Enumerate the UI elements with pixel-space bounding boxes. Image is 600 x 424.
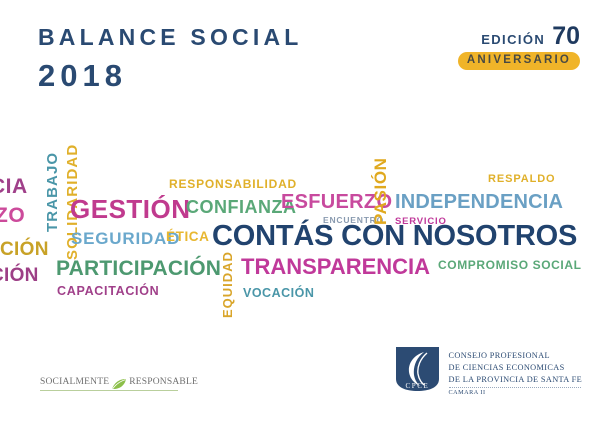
word-cloud-item: CAPACITACIÓN bbox=[57, 285, 159, 298]
anniversary-badge: EDICIÓN 70 ANIVERSARIO bbox=[420, 24, 580, 70]
sr-logo-inner: SOCIALMENTE RESPONSABLE bbox=[40, 377, 178, 391]
svg-text:CPCE: CPCE bbox=[405, 382, 429, 390]
word-cloud-item: INDEPENDENCIA bbox=[395, 192, 563, 212]
cpce-emblem-icon: CPCE bbox=[394, 345, 441, 393]
page-title: BALANCE SOCIAL bbox=[38, 26, 418, 49]
badge-edition-number: 70 bbox=[552, 24, 580, 49]
cpce-camara-label: CAMARA II bbox=[449, 390, 582, 396]
word-cloud-item: CIA bbox=[0, 176, 28, 197]
badge-anniversary-pill: ANIVERSARIO bbox=[458, 52, 580, 70]
poster-page: BALANCE SOCIAL 2018 EDICIÓN 70 ANIVERSAR… bbox=[0, 0, 600, 424]
word-cloud-item: SEGURIDAD bbox=[71, 230, 180, 247]
word-cloud-item: EQUIDAD bbox=[221, 251, 234, 318]
cpce-line-1: CONSEJO PROFESIONAL bbox=[449, 350, 582, 362]
word-cloud-item: RESPALDO bbox=[488, 174, 556, 185]
badge-edition-label: EDICIÓN bbox=[481, 33, 545, 46]
word-cloud-item: PARTICIPACIÓN bbox=[56, 258, 221, 279]
word-cloud-item: PASIÓN bbox=[372, 157, 389, 225]
word-cloud-item: GESTIÓN bbox=[70, 196, 191, 222]
word-cloud-item: CONFIANZA bbox=[186, 198, 297, 216]
report-year: 2018 bbox=[38, 60, 418, 91]
word-cloud-item: TRANSPARENCIA bbox=[241, 256, 430, 278]
cpce-line-2: DE CIENCIAS ECONOMICAS bbox=[449, 362, 582, 374]
leaf-icon bbox=[111, 377, 127, 388]
header-title-block: BALANCE SOCIAL 2018 bbox=[38, 26, 418, 91]
socialmente-responsable-logo: SOCIALMENTE RESPONSABLE bbox=[40, 377, 178, 391]
word-cloud-item: ÉTICA bbox=[166, 230, 210, 244]
cpce-divider bbox=[449, 387, 581, 388]
word-cloud-item: TRABAJO bbox=[45, 152, 60, 232]
word-cloud-item: VOCACIÓN bbox=[243, 287, 314, 300]
word-cloud-item: ZO bbox=[0, 205, 25, 226]
word-cloud: CIA ZO ACIÓN CIÓN TRABAJO SOLIDARIDAD GE… bbox=[0, 130, 600, 325]
cpce-logo: CPCE CONSEJO PROFESIONAL DE CIENCIAS ECO… bbox=[394, 345, 582, 397]
word-cloud-item: COMPROMISO SOCIAL bbox=[438, 259, 582, 271]
word-cloud-item: ACIÓN bbox=[0, 240, 49, 259]
cpce-text-block: CONSEJO PROFESIONAL DE CIENCIAS ECONOMIC… bbox=[449, 345, 582, 397]
badge-top-line: EDICIÓN 70 bbox=[420, 24, 580, 49]
word-cloud-item: RESPONSABILIDAD bbox=[169, 178, 297, 190]
word-cloud-item: CIÓN bbox=[0, 266, 39, 285]
cpce-line-3: DE LA PROVINCIA DE SANTA FE bbox=[449, 374, 582, 386]
sr-word-responsable: RESPONSABLE bbox=[129, 378, 198, 388]
sr-word-socialmente: SOCIALMENTE bbox=[40, 378, 109, 388]
word-cloud-item: SERVICIO bbox=[395, 217, 447, 227]
